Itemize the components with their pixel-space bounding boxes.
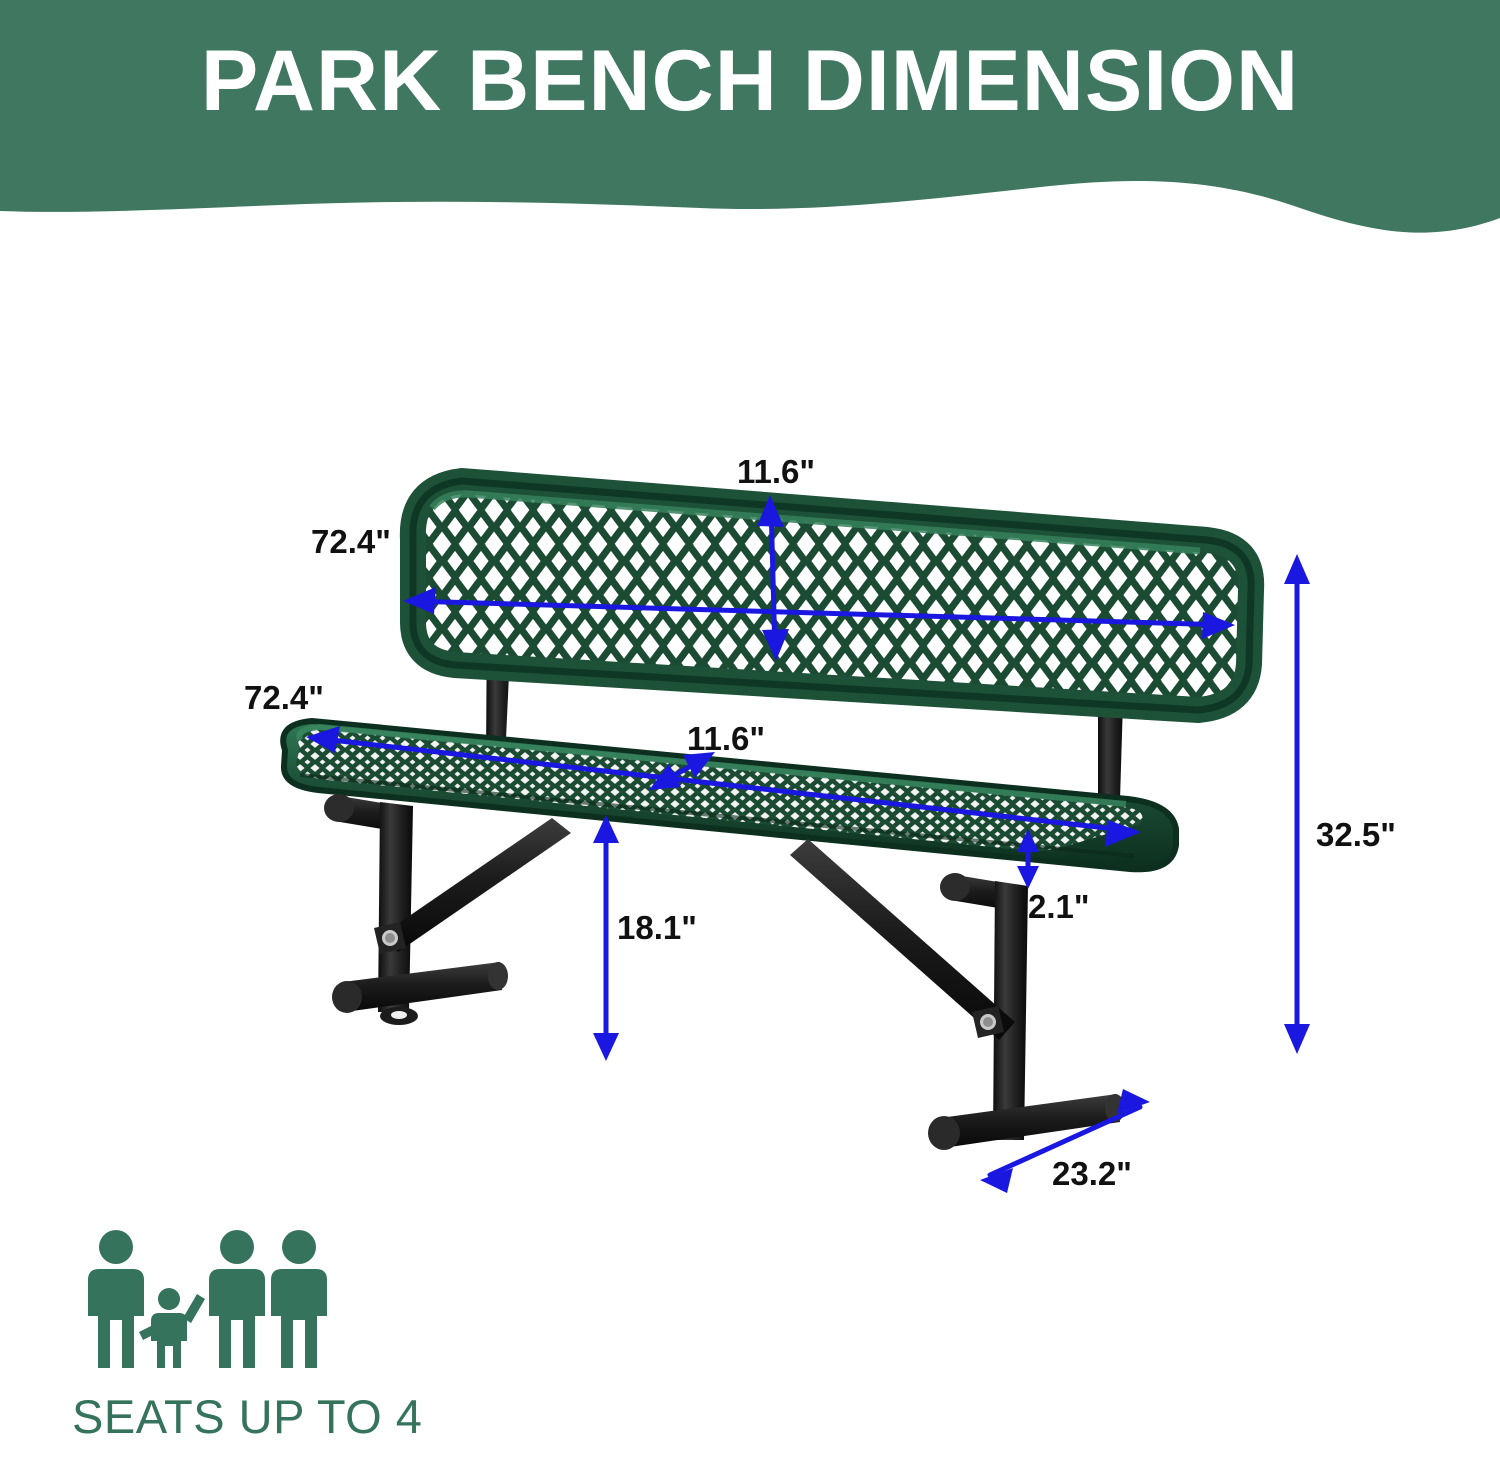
right-upper-support-tube	[940, 873, 1022, 912]
adult-figure-icon	[88, 1230, 144, 1368]
adult-figure-icon	[271, 1230, 327, 1368]
dim-label-seat-thickness: 2.1"	[1028, 890, 1090, 923]
people-icon-group	[75, 1228, 395, 1378]
dim-label-backrest-height: 11.6"	[737, 455, 815, 488]
left-foot-tube	[332, 962, 508, 1013]
arrow-overall-height	[1284, 554, 1310, 1054]
dim-label-seat-height: 18.1"	[617, 911, 697, 944]
bench-backrest	[400, 470, 1280, 730]
arrow-seat-depth	[649, 752, 715, 790]
page-title: PARK BENCH DIMENSION	[0, 38, 1500, 124]
child-figure-icon	[139, 1288, 205, 1368]
dim-label-seat-width: 72.4"	[244, 681, 324, 714]
dim-label-backrest-width: 72.4"	[311, 525, 391, 558]
arrow-backrest-width	[403, 587, 1235, 639]
capacity-caption: SEATS UP TO 4	[72, 1393, 422, 1440]
adult-figure-icon	[209, 1230, 265, 1368]
dimension-arrows	[306, 495, 1310, 1193]
arrow-seat-thickness	[1017, 829, 1039, 889]
capacity-icons	[75, 1228, 505, 1383]
arrow-backrest-height	[757, 495, 789, 661]
back-support-posts	[486, 610, 1124, 800]
right-foot-tube	[928, 1094, 1125, 1150]
arrow-seat-height	[593, 815, 619, 1061]
header-banner: PARK BENCH DIMENSION	[0, 0, 1500, 260]
dim-label-overall-depth: 23.2"	[1052, 1157, 1132, 1190]
left-leg-assembly	[324, 794, 571, 1025]
dim-label-seat-depth: 11.6"	[687, 722, 765, 755]
product-dimension-diagram: PARK BENCH DIMENSION	[0, 0, 1500, 1457]
dim-label-overall-height: 32.5"	[1316, 818, 1396, 851]
right-leg-assembly	[790, 839, 1125, 1150]
left-upper-support-tube	[324, 794, 406, 833]
